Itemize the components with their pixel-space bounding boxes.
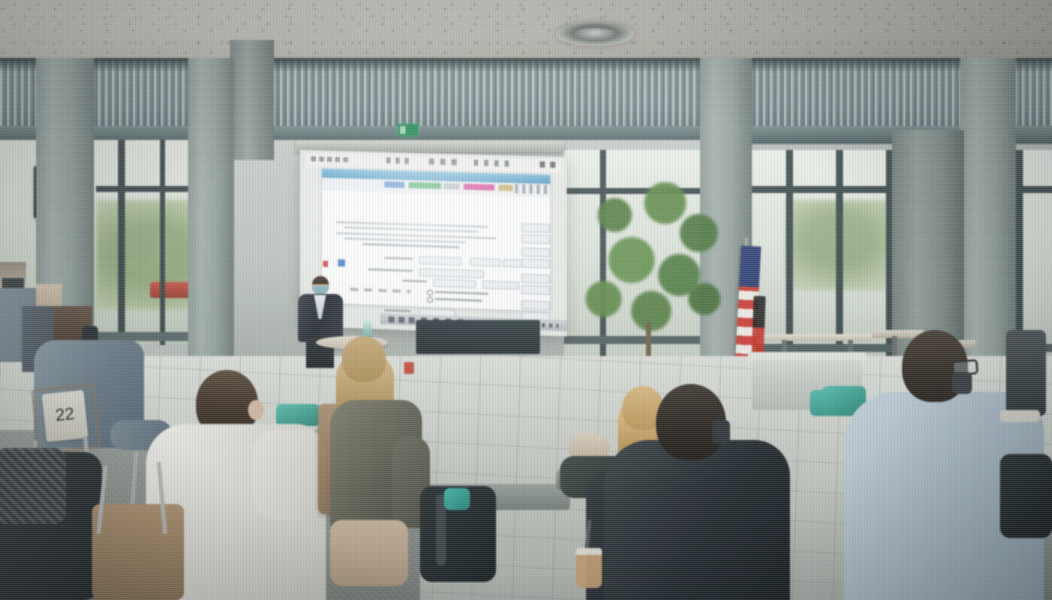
field-label (403, 280, 427, 283)
window-mullion (836, 150, 843, 360)
browser-menu-icons[interactable] (540, 161, 561, 168)
form-body (322, 191, 550, 312)
field-label (384, 309, 410, 312)
side-panel-field[interactable] (521, 285, 550, 295)
structural-column (188, 58, 234, 388)
side-panel-red-icon[interactable] (323, 261, 328, 267)
potted-tree (584, 182, 724, 372)
structural-column (230, 40, 274, 160)
ribbon-tab-grey[interactable] (443, 183, 459, 190)
paragraph-line (344, 226, 478, 232)
face-mask-icon (712, 420, 730, 444)
side-panel-field[interactable] (521, 234, 550, 244)
side-panel-blue-button[interactable] (338, 259, 345, 266)
bag (1000, 454, 1052, 538)
attendee-ear (248, 400, 264, 420)
window-mullion (1016, 150, 1023, 360)
side-panel-field[interactable] (521, 247, 550, 257)
tree-foliage (584, 182, 724, 332)
radio-button[interactable] (427, 297, 433, 303)
forward-icon[interactable] (319, 157, 324, 162)
back-icon[interactable] (311, 156, 316, 161)
radio-button[interactable] (427, 290, 433, 296)
application-window[interactable] (322, 169, 550, 312)
side-panel-field[interactable] (521, 223, 550, 233)
taskbar-start-icon[interactable] (388, 316, 394, 322)
red-cup (404, 362, 414, 374)
ribbon-tab-green[interactable] (409, 182, 442, 189)
chair-22: 22 (42, 390, 89, 442)
side-panel[interactable] (521, 223, 548, 330)
clerestory-shadow (0, 58, 1052, 72)
attendee-legs (330, 520, 408, 586)
attendee-torso (604, 440, 790, 600)
downlight-lens (574, 28, 616, 40)
window-mullion (160, 140, 165, 345)
form-input[interactable] (419, 268, 484, 278)
high-table (764, 334, 872, 341)
attendee-arm (252, 430, 326, 520)
teal-cushion (276, 404, 320, 426)
bookmarks-bar[interactable] (386, 157, 412, 164)
form-input[interactable] (482, 280, 519, 289)
shoe (1000, 410, 1040, 422)
numeric-values-row (350, 288, 411, 293)
taskbar-taskview-icon[interactable] (409, 317, 415, 323)
side-panel-field[interactable] (521, 300, 550, 310)
radio-label (435, 298, 482, 302)
form-input[interactable] (470, 258, 501, 267)
side-panel-field[interactable] (521, 258, 550, 268)
chair-number-label: 22 (43, 403, 87, 427)
exit-sign-glyph-icon (400, 126, 416, 134)
face-mask-icon (952, 372, 972, 394)
ribbon-tab-yellow[interactable] (499, 185, 513, 192)
radio-label (435, 291, 488, 295)
bench (416, 320, 540, 354)
window-mullion (118, 140, 125, 345)
wooden-chair (92, 504, 184, 600)
presenter (292, 276, 348, 368)
conference-room-photo: 22 23 Confer (0, 0, 1052, 600)
window-mullion (786, 150, 793, 360)
ribbon-tool-icons[interactable] (515, 184, 548, 194)
form-input[interactable] (433, 279, 476, 289)
ribbon-tab-blue[interactable] (384, 181, 404, 188)
side-panel-field[interactable] (521, 274, 550, 284)
home-icon[interactable] (335, 157, 340, 162)
standing-person-legs (1006, 330, 1046, 416)
structural-column (960, 58, 1016, 358)
ceiling-shading (0, 0, 1052, 62)
bookmarks-bar[interactable] (474, 160, 509, 167)
paragraph-line (362, 243, 459, 248)
bookmark-icon[interactable] (343, 157, 348, 162)
attendee-patterned-sleeve (0, 448, 66, 524)
taskbar-search-icon[interactable] (399, 317, 405, 323)
backpack-teal-pouch (444, 488, 470, 510)
form-input[interactable] (419, 256, 462, 266)
reload-icon[interactable] (327, 157, 332, 162)
ribbon-tab-pink[interactable] (464, 184, 495, 191)
bookmarks-bar[interactable] (429, 158, 462, 165)
attendee-head (342, 336, 386, 382)
field-label (384, 257, 412, 260)
field-label (368, 268, 413, 272)
iced-coffee-cup (576, 548, 602, 588)
